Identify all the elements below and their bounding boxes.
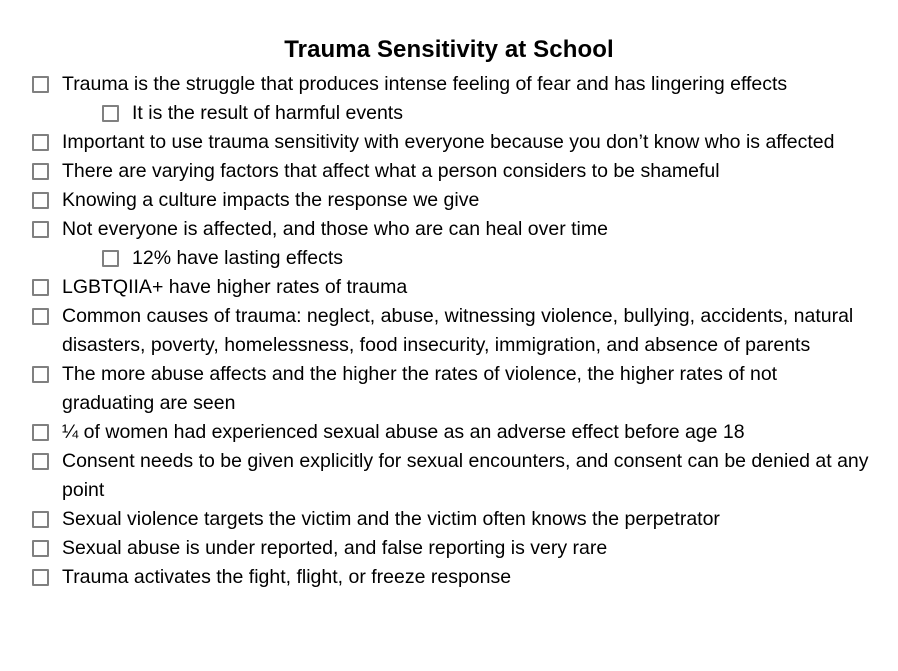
checklist-item-label: Not everyone is affected, and those who … (62, 215, 870, 244)
checklist-item[interactable]: 12% have lasting effects (95, 244, 870, 273)
checklist-item-label: Sexual abuse is under reported, and fals… (62, 534, 870, 563)
checkbox-unchecked-icon[interactable] (102, 250, 119, 267)
checklist-item[interactable]: Sexual abuse is under reported, and fals… (25, 534, 870, 563)
checklist-item-label: Consent needs to be given explicitly for… (62, 447, 870, 505)
checklist-item[interactable]: Trauma activates the fight, flight, or f… (25, 563, 870, 592)
checklist-item[interactable]: Consent needs to be given explicitly for… (25, 447, 870, 505)
checklist-item[interactable]: Important to use trauma sensitivity with… (25, 128, 870, 157)
checklist-item-label: Knowing a culture impacts the response w… (62, 186, 870, 215)
checklist-item-label: Common causes of trauma: neglect, abuse,… (62, 302, 870, 360)
checklist-item-label: Trauma is the struggle that produces int… (62, 70, 870, 99)
checklist-item-label: 12% have lasting effects (132, 244, 870, 273)
checklist-item-label: Trauma activates the fight, flight, or f… (62, 563, 870, 592)
document-page: Trauma Sensitivity at School Trauma is t… (0, 0, 898, 671)
checkbox-unchecked-icon[interactable] (32, 279, 49, 296)
checkbox-unchecked-icon[interactable] (32, 308, 49, 325)
checklist-item-label: Important to use trauma sensitivity with… (62, 128, 870, 157)
checkbox-unchecked-icon[interactable] (32, 366, 49, 383)
checklist-item-label: It is the result of harmful events (132, 99, 870, 128)
checkbox-unchecked-icon[interactable] (32, 192, 49, 209)
checklist-item[interactable]: The more abuse affects and the higher th… (25, 360, 870, 418)
checkbox-unchecked-icon[interactable] (102, 105, 119, 122)
checklist-item[interactable]: Common causes of trauma: neglect, abuse,… (25, 302, 870, 360)
page-title: Trauma Sensitivity at School (0, 0, 898, 70)
checklist-item[interactable]: There are varying factors that affect wh… (25, 157, 870, 186)
checklist-item-label: ¼ of women had experienced sexual abuse … (62, 418, 870, 447)
checkbox-unchecked-icon[interactable] (32, 511, 49, 528)
checkbox-unchecked-icon[interactable] (32, 134, 49, 151)
checkbox-unchecked-icon[interactable] (32, 540, 49, 557)
checkbox-unchecked-icon[interactable] (32, 569, 49, 586)
checklist-item[interactable]: Sexual violence targets the victim and t… (25, 505, 870, 534)
checkbox-unchecked-icon[interactable] (32, 221, 49, 238)
checklist-item[interactable]: Not everyone is affected, and those who … (25, 215, 870, 244)
checklist-item[interactable]: Knowing a culture impacts the response w… (25, 186, 870, 215)
checklist-item[interactable]: Trauma is the struggle that produces int… (25, 70, 870, 99)
checklist-item-label: There are varying factors that affect wh… (62, 157, 870, 186)
checklist-item-label: Sexual violence targets the victim and t… (62, 505, 870, 534)
checkbox-unchecked-icon[interactable] (32, 163, 49, 180)
checklist-item-label: LGBTQIIA+ have higher rates of trauma (62, 273, 870, 302)
checklist-item[interactable]: LGBTQIIA+ have higher rates of trauma (25, 273, 870, 302)
trauma-sensitivity-checklist: Trauma is the struggle that produces int… (0, 70, 898, 592)
checklist-item[interactable]: ¼ of women had experienced sexual abuse … (25, 418, 870, 447)
checkbox-unchecked-icon[interactable] (32, 424, 49, 441)
checkbox-unchecked-icon[interactable] (32, 453, 49, 470)
checkbox-unchecked-icon[interactable] (32, 76, 49, 93)
checklist-item-label: The more abuse affects and the higher th… (62, 360, 870, 418)
checklist-item[interactable]: It is the result of harmful events (95, 99, 870, 128)
